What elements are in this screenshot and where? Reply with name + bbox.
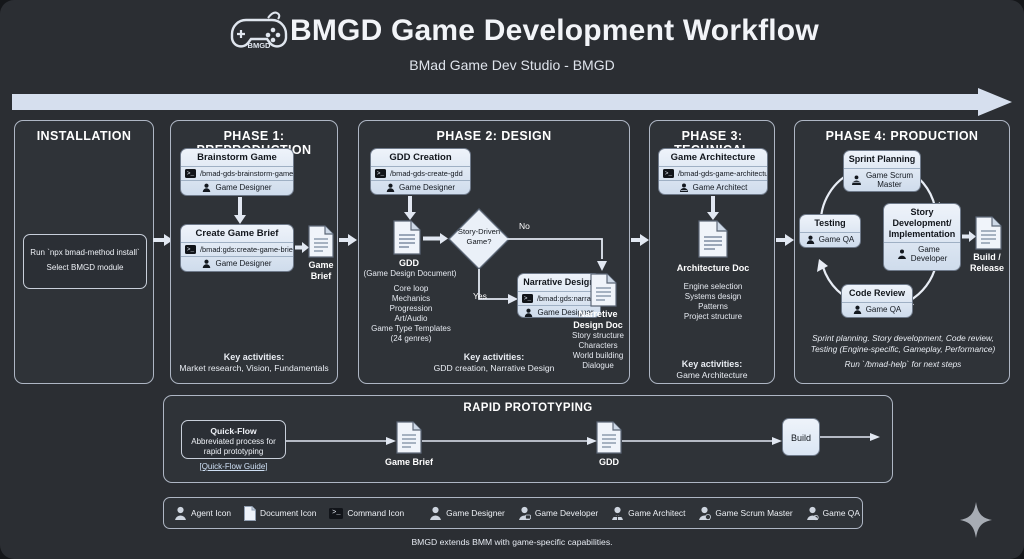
key-activities-text: Game Architecture bbox=[654, 370, 770, 381]
connector-arrow bbox=[295, 242, 309, 253]
qa-icon bbox=[806, 506, 819, 520]
connector-arrow bbox=[776, 234, 794, 246]
card-command-row: >_ /bmad:gds:create-game-brief bbox=[181, 242, 293, 256]
card-role: Game QA bbox=[866, 305, 902, 314]
quick-flow-line-1: Abbreviated process for bbox=[182, 437, 285, 447]
architect-icon bbox=[611, 506, 624, 520]
document-icon-narrative bbox=[590, 273, 617, 307]
command-icon: >_ bbox=[375, 169, 386, 178]
card-role-row: Game QA bbox=[800, 232, 860, 246]
card-title: Create Game Brief bbox=[181, 225, 293, 242]
card-role-row: Game QA bbox=[842, 302, 912, 316]
connector-arrow bbox=[234, 197, 246, 224]
rapid-step-label-game-brief: Game Brief bbox=[374, 457, 444, 468]
connector-arrow bbox=[423, 233, 448, 244]
document-icon-game-brief bbox=[308, 225, 334, 258]
panel-phase-4: PHASE 4: PRODUCTION Sprint Planning bbox=[794, 120, 1010, 384]
card-command-row: >_ /bmad-gds-brainstorm-game bbox=[181, 166, 293, 180]
legend-label: Document Icon bbox=[260, 508, 316, 518]
connector-arrow bbox=[339, 234, 357, 246]
legend-item-command: >_ Command Icon bbox=[329, 508, 404, 519]
document-icon-build-release bbox=[975, 216, 1002, 250]
card-sprint-planning[interactable]: Sprint Planning Game Scrum Master bbox=[843, 150, 921, 192]
installation-line-2: Select BMGD module bbox=[24, 261, 146, 275]
connector-yes-path bbox=[472, 269, 518, 309]
card-command-row: >_ /bmad:gds:narrative bbox=[518, 291, 600, 305]
decision-label-no: No bbox=[519, 221, 530, 231]
card-title: Story Development/ Implementation bbox=[884, 204, 960, 242]
connector-arrow bbox=[820, 432, 880, 442]
legend-item-game-qa: Game QA bbox=[806, 506, 860, 520]
card-command: /bmad-gds-game-architecture bbox=[678, 169, 768, 178]
command-icon: >_ bbox=[329, 508, 343, 519]
installation-line-1: Run `npx bmad-method install` bbox=[24, 245, 146, 261]
gdd-details: Core loop Mechanics Progression Art/Audi… bbox=[363, 284, 459, 344]
document-label-narrative: Narretive Design Doc bbox=[567, 309, 629, 330]
card-role-row: Game Scrum Master bbox=[844, 168, 920, 191]
legend-item-agent: Agent Icon bbox=[174, 506, 231, 520]
card-role: Game Architect bbox=[693, 183, 748, 192]
scrum-master-icon bbox=[851, 175, 862, 185]
card-role: Game Designer bbox=[399, 183, 455, 192]
card-title: Brainstorm Game bbox=[181, 149, 293, 166]
connector-arrow bbox=[631, 234, 649, 246]
connector-arrow bbox=[622, 436, 782, 446]
card-create-game-brief[interactable]: Create Game Brief >_ /bmad:gds:create-ga… bbox=[180, 224, 294, 272]
key-activities-label: Key activities: bbox=[682, 359, 743, 369]
document-icon-gdd bbox=[393, 220, 421, 255]
legend-label: Game Developer bbox=[535, 508, 598, 518]
connector-arrow bbox=[962, 231, 976, 242]
card-role: Game Designer bbox=[215, 259, 271, 268]
legend-item-game-scrum-master: Game Scrum Master bbox=[698, 506, 792, 520]
footnote: BMGD extends BMM with game-specific capa… bbox=[0, 537, 1024, 547]
panel-phase-2: PHASE 2: DESIGN GDD Creation >_ /bmad-gd… bbox=[358, 120, 630, 384]
scrum-master-icon bbox=[698, 506, 711, 520]
panel-phase-3: PHASE 3: TECHNICAL Game Architecture >_ … bbox=[649, 120, 775, 384]
developer-icon bbox=[897, 249, 907, 259]
panel-installation: INSTALLATION Run `npx bmad-method instal… bbox=[14, 120, 154, 384]
card-game-architecture[interactable]: Game Architecture >_ /bmad-gds-game-arch… bbox=[658, 148, 768, 195]
agent-icon bbox=[202, 259, 211, 268]
panel-title-phase-2: PHASE 2: DESIGN bbox=[359, 129, 629, 143]
agent-icon bbox=[524, 308, 533, 317]
legend-label: Command Icon bbox=[347, 508, 404, 518]
document-label-game-brief: Game Brief bbox=[301, 260, 341, 281]
command-icon: >_ bbox=[663, 169, 674, 178]
key-activities-label: Key activities: bbox=[464, 352, 525, 362]
gamepad-icon: BMGD bbox=[228, 8, 290, 58]
card-command: /bmad:gds:create-game-brief bbox=[200, 245, 294, 254]
quick-flow-box[interactable]: Quick-Flow Abbreviated process for rapid… bbox=[181, 420, 286, 459]
document-label-build-release: Build / Release bbox=[962, 252, 1012, 273]
card-role: Game Scrum Master bbox=[866, 171, 913, 189]
diagram-header: BMGD BMGD Game Development Workflow BMad… bbox=[0, 0, 1024, 82]
agent-icon bbox=[202, 183, 211, 192]
phase-4-footer-line-3: Run `/bmad-help` for next steps bbox=[799, 359, 1007, 370]
key-activities-text: GDD creation, Narrative Design bbox=[363, 363, 625, 374]
legend-label: Game Scrum Master bbox=[715, 508, 792, 518]
logo-text: BMGD bbox=[248, 41, 271, 50]
card-brainstorm-game[interactable]: Brainstorm Game >_ /bmad-gds-brainstorm-… bbox=[180, 148, 294, 196]
panel-title-rapid-prototyping: RAPID PROTOTYPING bbox=[164, 402, 892, 414]
decision-line-2: Game? bbox=[448, 237, 510, 247]
card-testing[interactable]: Testing Game QA bbox=[799, 214, 861, 248]
card-command-row: >_ /bmad-gds-game-architecture bbox=[659, 166, 767, 180]
card-command: /bmad-gds-brainstorm-game bbox=[200, 169, 293, 178]
workflow-diagram: BMGD BMGD Game Development Workflow BMad… bbox=[0, 0, 1024, 559]
legend-item-game-architect: Game Architect bbox=[611, 506, 685, 520]
command-icon: >_ bbox=[522, 294, 533, 303]
panel-rapid-prototyping: RAPID PROTOTYPING Quick-Flow Abbreviated… bbox=[163, 395, 893, 483]
key-activities-phase-2: Key activities: GDD creation, Narrative … bbox=[363, 352, 625, 374]
card-command-row: >_ /bmad-gds-create-gdd bbox=[371, 166, 470, 180]
document-label-architecture: Architecture Doc bbox=[653, 263, 773, 274]
card-command: /bmad-gds-create-gdd bbox=[390, 169, 463, 178]
right-arrow-icon bbox=[12, 88, 1012, 116]
card-role: Game Designer bbox=[215, 183, 271, 192]
phase-4-footer-line-2: Testing (Engine-specific, Gameplay, Perf… bbox=[799, 344, 1007, 355]
key-activities-text: Market research, Vision, Fundamentals bbox=[175, 363, 333, 374]
card-title: Narrative Design bbox=[518, 274, 600, 291]
panel-phase-1: PHASE 1: PREPRODUCTION Brainstorm Game >… bbox=[170, 120, 338, 384]
quick-flow-title: Quick-Flow bbox=[182, 425, 285, 437]
page-subtitle: BMad Game Dev Studio - BMGD bbox=[0, 57, 1024, 73]
key-activities-phase-3: Key activities: Game Architecture bbox=[654, 359, 770, 381]
card-title: GDD Creation bbox=[371, 149, 470, 166]
page-title: BMGD Game Development Workflow bbox=[290, 10, 810, 52]
qa-icon bbox=[853, 305, 862, 314]
card-role-row: Game Developer bbox=[884, 242, 960, 265]
legend-label: Game Architect bbox=[628, 508, 685, 518]
quick-flow-guide-link[interactable]: [Quick-Flow Guide] bbox=[181, 462, 286, 471]
developer-icon bbox=[518, 506, 531, 520]
legend-label: Agent Icon bbox=[191, 508, 231, 518]
card-role-row: Game Designer bbox=[371, 180, 470, 194]
decision-label-yes: Yes bbox=[473, 291, 487, 301]
card-gdd-creation[interactable]: GDD Creation >_ /bmad-gds-create-gdd Gam… bbox=[370, 148, 471, 195]
architecture-details: Engine selection Systems design Patterns… bbox=[653, 282, 773, 322]
phase-4-footer: Sprint planning. Story development, Code… bbox=[799, 333, 1007, 370]
connector-arrow bbox=[707, 196, 719, 220]
key-activities-phase-1: Key activities: Market research, Vision,… bbox=[175, 352, 333, 374]
architect-icon bbox=[679, 183, 689, 192]
rapid-step-build[interactable]: Build bbox=[782, 418, 820, 456]
key-activities-label: Key activities: bbox=[224, 352, 285, 362]
connector-arrow bbox=[422, 436, 597, 446]
document-sub-gdd: (Game Design Document) bbox=[360, 269, 460, 279]
sparkle-icon bbox=[958, 500, 994, 540]
decision-line-1: Story-Driven bbox=[448, 227, 510, 237]
legend: Agent Icon Document Icon >_ Command Icon… bbox=[163, 497, 863, 529]
legend-item-game-developer: Game Developer bbox=[518, 506, 598, 520]
document-icon bbox=[244, 506, 256, 521]
document-icon-gdd-rapid bbox=[596, 421, 622, 454]
decision-story-driven: Story-Driven Game? bbox=[448, 208, 510, 270]
connector-arrow bbox=[286, 436, 396, 446]
card-role-row: Game Designer bbox=[181, 180, 293, 194]
card-title: Testing bbox=[800, 215, 860, 232]
connector-arrow bbox=[404, 196, 416, 220]
designer-icon bbox=[429, 506, 442, 520]
installation-box: Run `npx bmad-method install` Select BMG… bbox=[23, 234, 147, 289]
document-icon-game-brief-rapid bbox=[396, 421, 422, 454]
card-role: Game Developer bbox=[911, 245, 947, 263]
document-icon-architecture bbox=[698, 220, 728, 258]
command-icon: >_ bbox=[185, 169, 196, 178]
card-role-row: Game Designer bbox=[181, 256, 293, 270]
card-code-review[interactable]: Code Review Game QA bbox=[841, 284, 913, 318]
card-role: Game QA bbox=[819, 235, 855, 244]
rapid-step-label-build: Build bbox=[783, 419, 819, 456]
legend-item-game-designer: Game Designer bbox=[429, 506, 505, 520]
card-story-development[interactable]: Story Development/ Implementation Game D… bbox=[883, 203, 961, 271]
rapid-step-label-gdd: GDD bbox=[576, 457, 642, 468]
card-title: Code Review bbox=[842, 285, 912, 302]
panel-title-installation: INSTALLATION bbox=[15, 129, 153, 143]
panel-title-phase-4: PHASE 4: PRODUCTION bbox=[795, 129, 1009, 143]
agent-icon bbox=[174, 506, 187, 520]
legend-item-document: Document Icon bbox=[244, 506, 316, 521]
card-title: Sprint Planning bbox=[844, 151, 920, 168]
phase-4-footer-line-1: Sprint planning. Story development, Code… bbox=[799, 333, 1007, 344]
document-label-gdd: GDD bbox=[369, 258, 449, 269]
quick-flow-line-2: rapid prototyping bbox=[182, 447, 285, 457]
qa-icon bbox=[806, 235, 815, 244]
legend-label: Game Designer bbox=[446, 508, 505, 518]
card-role-row: Game Architect bbox=[659, 180, 767, 194]
card-title: Game Architecture bbox=[659, 149, 767, 166]
command-icon: >_ bbox=[185, 245, 196, 254]
legend-label: Game QA bbox=[823, 508, 860, 518]
agent-icon bbox=[386, 183, 395, 192]
